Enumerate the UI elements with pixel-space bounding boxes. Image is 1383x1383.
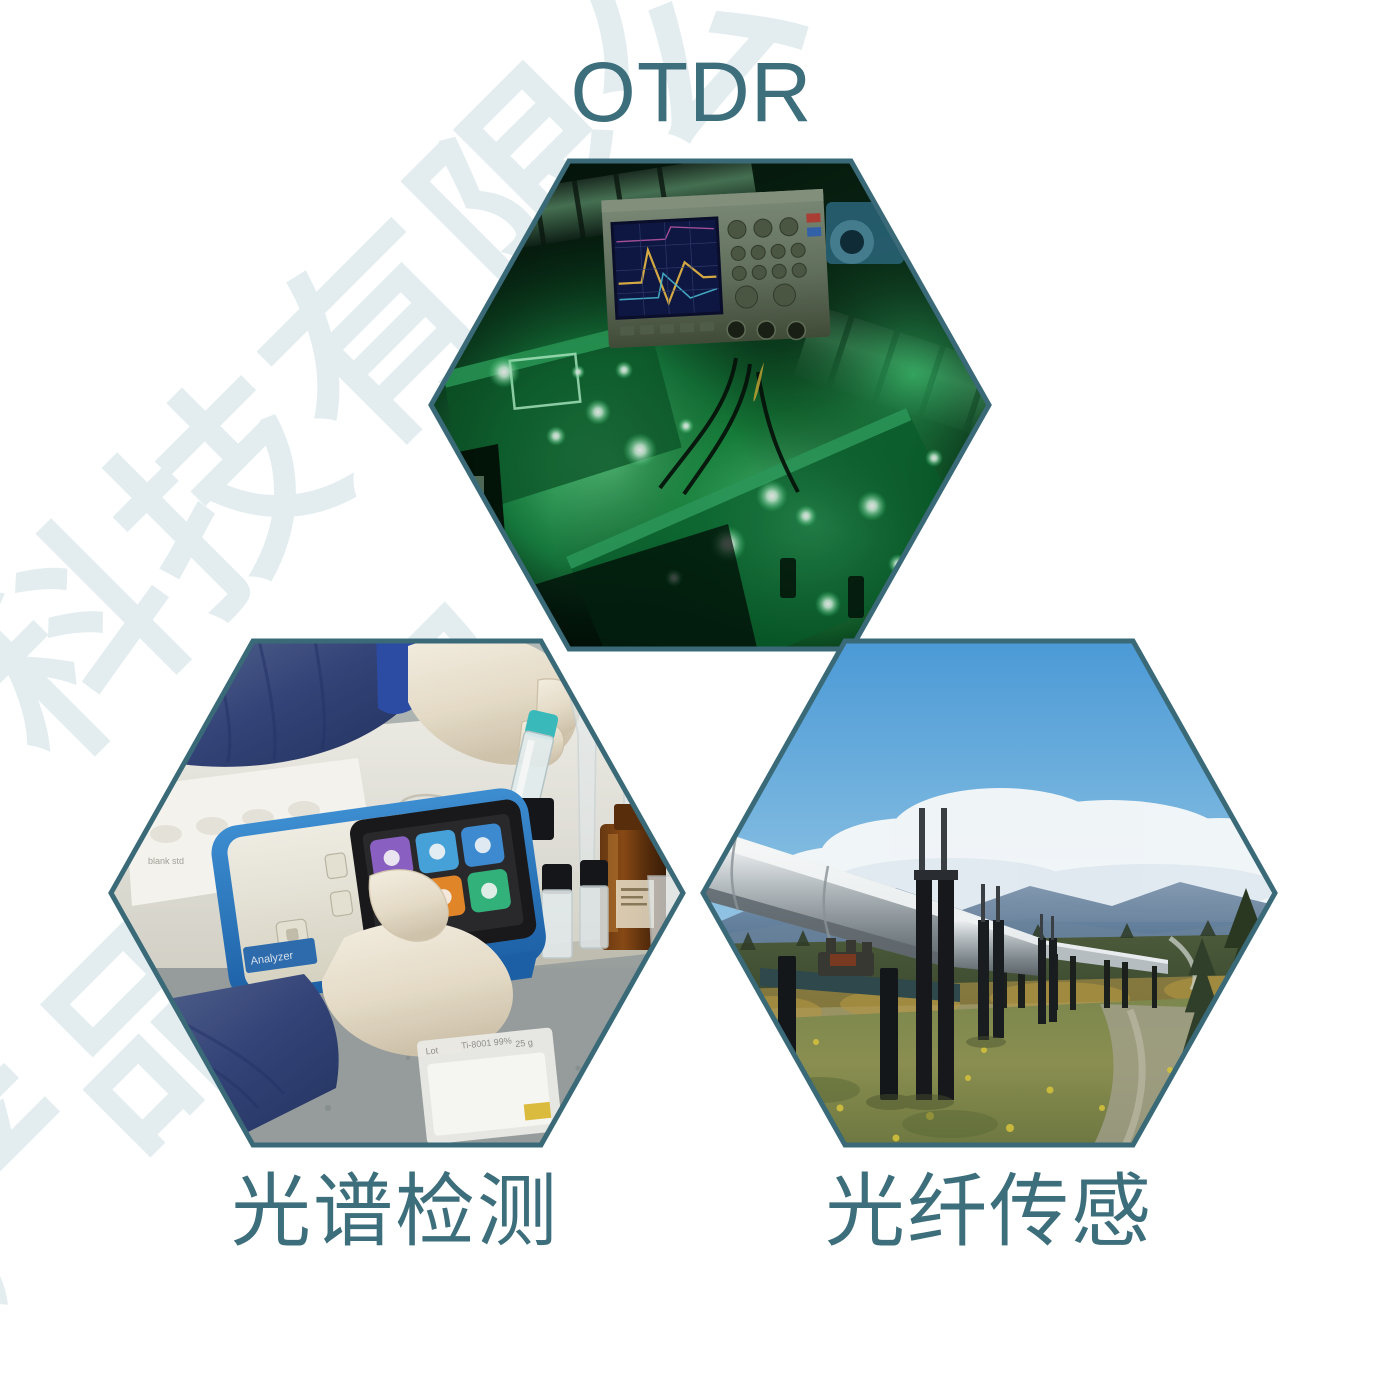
caption-spectral-detection: 光谱检测	[110, 1172, 680, 1252]
hexagon-fiber-sensing[interactable]	[700, 638, 1278, 1148]
hexagon-spectral-detection[interactable]: blank std sample A1	[108, 638, 686, 1148]
heading-otdr: OTDR	[0, 50, 1383, 134]
slide-canvas: 科技有限公司 产品介绍	[0, 0, 1383, 1383]
caption-fiber-sensing: 光纤传感	[703, 1172, 1275, 1252]
hexagon-otdr-image	[428, 158, 992, 652]
hexagon-fiber-sensing-image	[700, 638, 1278, 1148]
hexagon-spectral-detection-image: blank std sample A1	[108, 638, 686, 1148]
hexagon-otdr[interactable]	[428, 158, 992, 652]
